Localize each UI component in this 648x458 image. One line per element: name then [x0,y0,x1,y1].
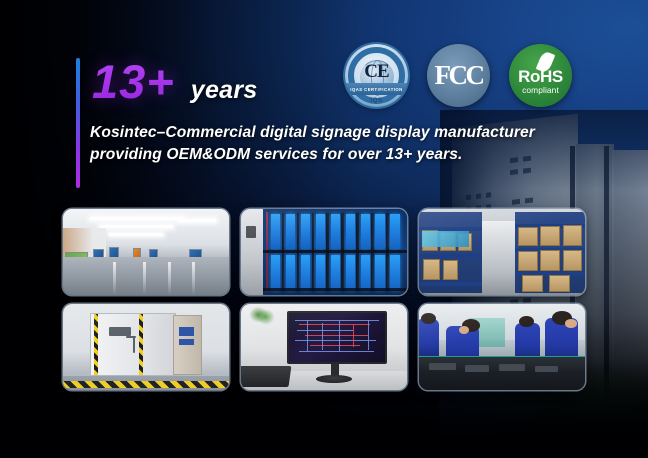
test-chamber-image [63,304,229,390]
gallery-photo-showroom[interactable] [63,209,229,295]
cad-design-image [241,304,407,390]
aging-test-image [241,209,407,295]
ce-certification-icon: CE IQAS CERTIFICATION IQS [345,44,408,107]
gallery-photo-cad-design[interactable] [241,304,407,390]
gallery-photo-assembly-line[interactable] [419,304,585,390]
showroom-image [63,209,229,295]
assembly-line-image [419,304,585,390]
years-number: 13+ [92,58,175,105]
gallery-photo-test-chamber[interactable] [63,304,229,390]
years-label: years [191,78,258,103]
company-description: Kosintec–Commercial digital signage disp… [90,122,560,165]
rohs-certification-icon: RoHS compliant [509,44,572,107]
ce-mark-text: CE [364,61,388,83]
fcc-mark-text: FCC [435,60,483,91]
gallery-photo-aging-test[interactable] [241,209,407,295]
facility-photo-gallery [63,209,585,390]
warehouse-image [419,209,585,295]
headline: 13+ years [92,58,258,105]
certification-badges: CE IQAS CERTIFICATION IQS FCC RoHS compl… [345,44,572,107]
company-profile-banner: 13+ years Kosintec–Commercial digital si… [0,0,648,458]
headline-accent-bar [76,58,80,188]
rohs-compliant-text: compliant [522,85,559,95]
ce-ribbon-text: IQAS CERTIFICATION [350,87,402,92]
gallery-photo-warehouse[interactable] [419,209,585,295]
ce-ribbon: IQAS CERTIFICATION [345,83,408,95]
ce-footer-text: IQS [345,98,408,104]
fcc-certification-icon: FCC [427,44,490,107]
